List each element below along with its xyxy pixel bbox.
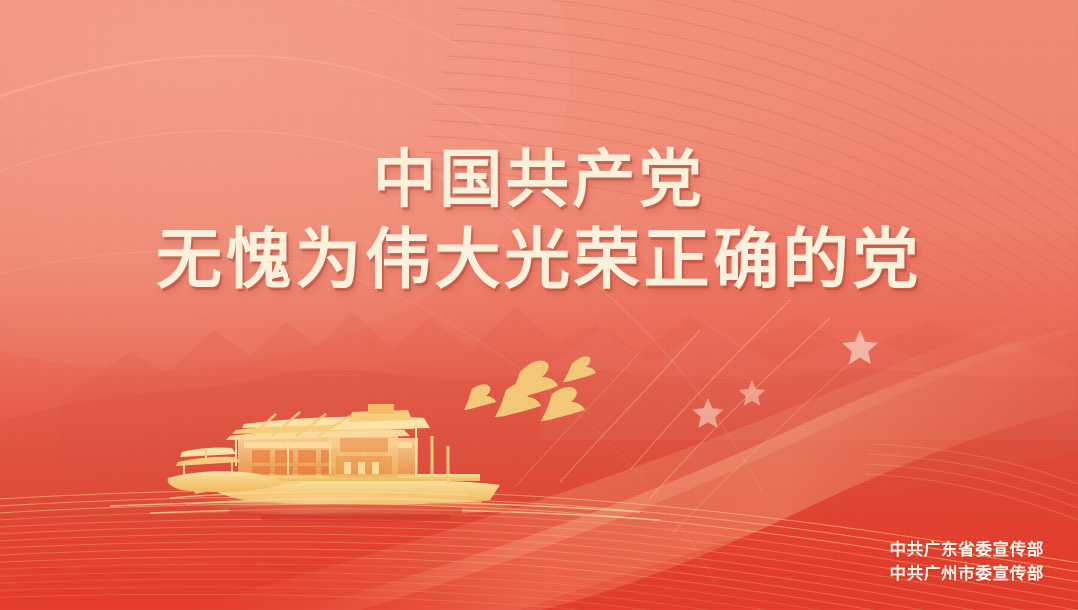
star-icon [842, 330, 877, 364]
poster-canvas: 中国共产党 无愧为伟大光荣正确的党 中共广东省委宣传部 中共广州市委宣传部 [0, 0, 1078, 610]
background-arc-lines-top-right [0, 0, 1078, 610]
poster-title: 中国共产党 无愧为伟大光荣正确的党 [0, 142, 1078, 302]
title-line-2: 无愧为伟大光荣正确的党 [0, 218, 1078, 302]
background-mountains [0, 0, 1078, 610]
bird-icon [563, 356, 596, 382]
birds-group [0, 0, 1078, 610]
bird-icon [464, 384, 496, 410]
texture-overlay [0, 0, 1078, 610]
bird-icon [506, 360, 558, 401]
background-arcs-left [0, 0, 1078, 610]
nanhu-red-boat-illustration [0, 0, 1078, 610]
poster-credits: 中共广东省委宣传部 中共广州市委宣传部 [890, 538, 1044, 586]
background-light-sweep [0, 0, 1078, 610]
star-icon [739, 380, 766, 406]
credit-line-1: 中共广东省委宣传部 [890, 538, 1044, 562]
bird-icon [541, 387, 585, 421]
bird-icon [495, 382, 541, 417]
credit-line-2: 中共广州市委宣传部 [890, 562, 1044, 586]
background-stars [0, 0, 1078, 610]
background-wave-lines [0, 0, 1078, 610]
star-icon [693, 398, 724, 428]
background-gold-rays [0, 0, 1078, 610]
title-line-1: 中国共产党 [0, 142, 1078, 218]
